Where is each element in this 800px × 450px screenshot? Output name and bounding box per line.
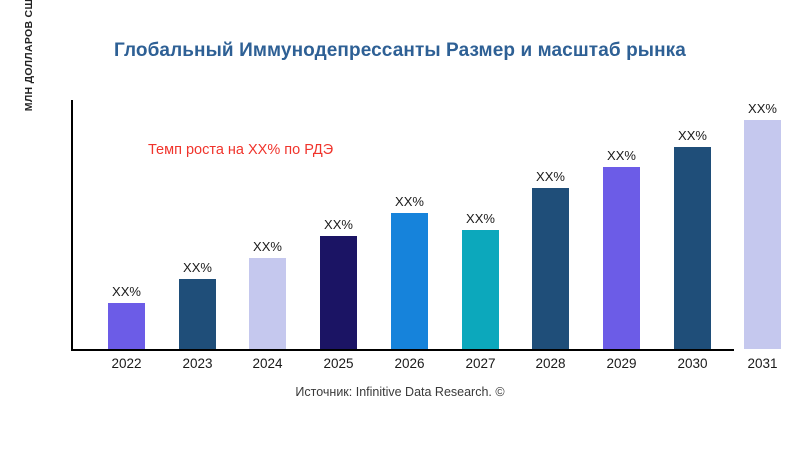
bar-2025[interactable]	[320, 236, 357, 349]
x-tick-label-2030: 2030	[677, 356, 707, 371]
bar-group-2031: XX%2031	[744, 100, 781, 349]
bar-group-2029: XX%2029	[603, 100, 640, 349]
bar-value-label-2022: XX%	[112, 284, 141, 299]
chart-container: Глобальный Иммунодепрессанты Размер и ма…	[0, 0, 800, 450]
x-tick-label-2027: 2027	[465, 356, 495, 371]
bar-value-label-2028: XX%	[536, 169, 565, 184]
bar-2028[interactable]	[532, 188, 569, 349]
bar-group-2030: XX%2030	[674, 100, 711, 349]
bar-2027[interactable]	[462, 230, 499, 349]
bar-group-2026: XX%2026	[391, 100, 428, 349]
bar-value-label-2024: XX%	[253, 239, 282, 254]
bar-group-2027: XX%2027	[462, 100, 499, 349]
x-tick-label-2025: 2025	[323, 356, 353, 371]
source-caption: Источник: Infinitive Data Research. ©	[0, 385, 800, 399]
bar-2029[interactable]	[603, 167, 640, 349]
bar-2030[interactable]	[674, 147, 711, 349]
bar-group-2024: XX%2024	[249, 100, 286, 349]
bar-value-label-2031: XX%	[748, 101, 777, 116]
bar-2023[interactable]	[179, 279, 216, 349]
bar-2022[interactable]	[108, 303, 145, 349]
bar-2031[interactable]	[744, 120, 781, 349]
bar-group-2028: XX%2028	[532, 100, 569, 349]
bar-2024[interactable]	[249, 258, 286, 349]
bar-value-label-2027: XX%	[466, 211, 495, 226]
bars-layer: XX%2022XX%2023XX%2024XX%2025XX%2026XX%20…	[0, 0, 800, 450]
bar-value-label-2023: XX%	[183, 260, 212, 275]
x-tick-label-2031: 2031	[747, 356, 777, 371]
bar-value-label-2025: XX%	[324, 217, 353, 232]
bar-group-2022: XX%2022	[108, 100, 145, 349]
x-tick-label-2024: 2024	[252, 356, 282, 371]
x-tick-label-2023: 2023	[182, 356, 212, 371]
x-tick-label-2022: 2022	[111, 356, 141, 371]
x-tick-label-2026: 2026	[394, 356, 424, 371]
bar-group-2023: XX%2023	[179, 100, 216, 349]
bar-2026[interactable]	[391, 213, 428, 349]
bar-value-label-2029: XX%	[607, 148, 636, 163]
x-tick-label-2028: 2028	[535, 356, 565, 371]
x-tick-label-2029: 2029	[606, 356, 636, 371]
bar-value-label-2026: XX%	[395, 194, 424, 209]
bar-group-2025: XX%2025	[320, 100, 357, 349]
bar-value-label-2030: XX%	[678, 128, 707, 143]
